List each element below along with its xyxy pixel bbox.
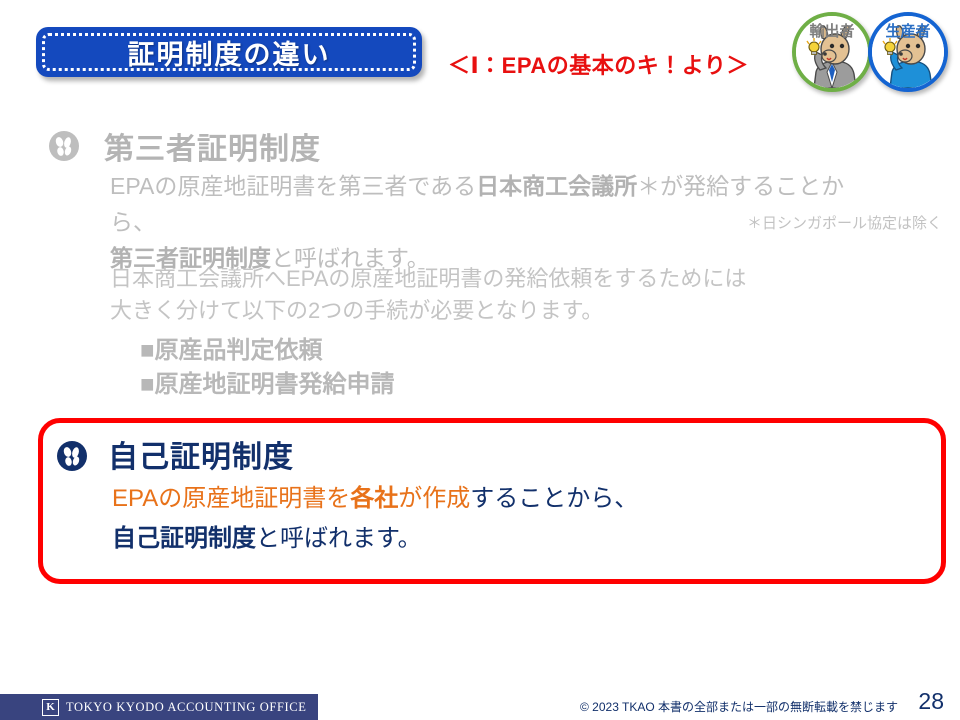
avatar-exporter: 輸出者 — [792, 12, 872, 92]
tp-p2-line2: 大きく分けて以下の2つの手続が必要となります。 — [110, 298, 603, 323]
footer-copyright: © 2023 TKAO 本書の全部または一部の無断転載を禁じます — [580, 698, 898, 715]
page-number: 28 — [918, 688, 944, 715]
sc-l2-rest: と呼ばれます。 — [256, 525, 422, 552]
tkao-logo-mark-icon: K — [42, 699, 59, 716]
third-party-footnote: ＊日シンガポール協定は除く — [747, 212, 942, 233]
slide-root: { "slide": { "title": "証明制度の違い", "subtit… — [0, 0, 960, 720]
self-certification-line-1: EPAの原産地証明書を各社が作成することから、 — [112, 482, 638, 516]
sc-l1-orange1: EPAの原産地証明書を — [112, 485, 350, 512]
third-party-heading: 第三者証明制度 — [104, 124, 321, 168]
sc-l1-orange2: が作成 — [398, 485, 470, 512]
footer-logo-bar: K TOKYO KYODO ACCOUNTING OFFICE — [0, 694, 318, 720]
sc-l2-strong: 自己証明制度 — [112, 525, 256, 552]
tp-p1-strong1: 日本商工会議所 — [476, 173, 637, 199]
footer-logo-text: TOKYO KYODO ACCOUNTING OFFICE — [66, 700, 306, 715]
third-party-paragraph-2: 日本商工会議所へEPAの原産地証明書の発給依頼をするためには大きく分けて以下の2… — [110, 263, 910, 327]
tp-p1-part1: EPAの原産地証明書を第三者である — [110, 173, 476, 199]
list-item: ■原産地証明書発給申請 — [140, 368, 395, 402]
avatar-producer: 生産者 — [868, 12, 948, 92]
third-party-procedure-list: ■原産品判定依頼 ■原産地証明書発給申請 — [140, 334, 395, 402]
self-certification-heading: 自己証明制度 — [108, 432, 294, 476]
tp-p2-line1: 日本商工会議所へEPAの原産地証明書の発給依頼をするためには — [110, 266, 746, 291]
paw-badge-icon-third-party — [48, 130, 80, 162]
paw-badge-icon-self-certification — [56, 440, 88, 472]
slide-title: 証明制度の違い — [128, 33, 331, 72]
kangaroo-producer-icon — [872, 16, 944, 88]
sc-l1-navy: することから、 — [470, 485, 638, 512]
slide-title-banner: 証明制度の違い — [36, 27, 422, 77]
sc-l1-orange-strong: 各社 — [350, 485, 398, 512]
kangaroo-exporter-icon — [796, 16, 868, 88]
self-certification-line-2: 自己証明制度と呼ばれます。 — [112, 522, 422, 556]
slide-subtitle: ＜Ⅰ：EPAの基本のキ！より＞ — [448, 48, 749, 80]
list-item: ■原産品判定依頼 — [140, 334, 395, 368]
